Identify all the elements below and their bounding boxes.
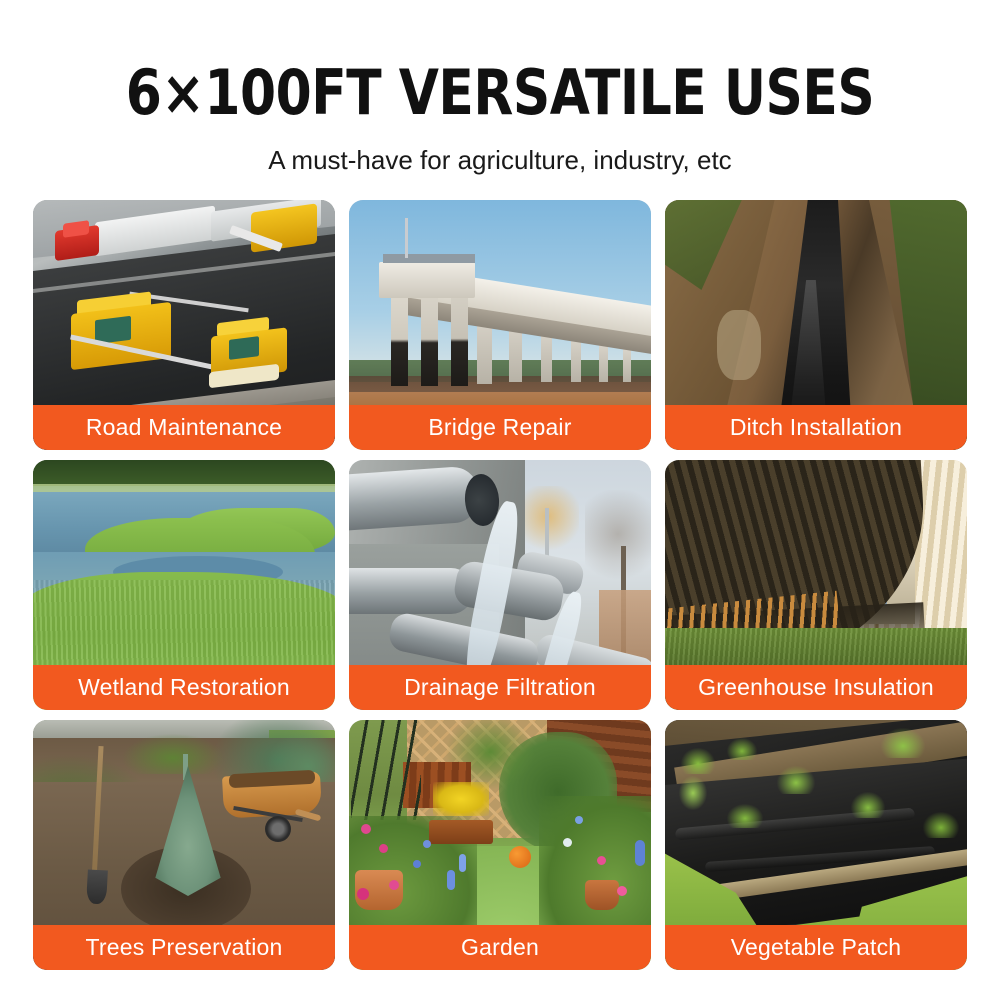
card-label: Wetland Restoration <box>33 665 335 710</box>
use-card-wetland-restoration: Wetland Restoration <box>33 460 335 710</box>
page-subtitle: A must-have for agriculture, industry, e… <box>0 145 1000 175</box>
use-card-trees-preservation: Trees Preservation <box>33 720 335 970</box>
use-card-road-maintenance: Road Maintenance <box>33 200 335 450</box>
card-label: Vegetable Patch <box>665 925 967 970</box>
card-label: Road Maintenance <box>33 405 335 450</box>
infographic-page: 6×100FT VERSATILE USES A must-have for a… <box>0 0 1000 1000</box>
use-card-bridge-repair: Bridge Repair <box>349 200 651 450</box>
card-label: Ditch Installation <box>665 405 967 450</box>
card-label: Garden <box>349 925 651 970</box>
page-title: 6×100FT VERSATILE USES <box>35 62 965 124</box>
use-card-greenhouse-insulation: Greenhouse Insulation <box>665 460 967 710</box>
use-card-drainage-filtration: Drainage Filtration <box>349 460 651 710</box>
use-card-ditch-installation: Ditch Installation <box>665 200 967 450</box>
card-label: Trees Preservation <box>33 925 335 970</box>
card-label: Drainage Filtration <box>349 665 651 710</box>
card-label: Greenhouse Insulation <box>665 665 967 710</box>
uses-grid: Road Maintenance Bridge Repair Ditch I <box>33 200 967 970</box>
use-card-vegetable-patch: Vegetable Patch <box>665 720 967 970</box>
card-label: Bridge Repair <box>349 405 651 450</box>
use-card-garden: Garden <box>349 720 651 970</box>
